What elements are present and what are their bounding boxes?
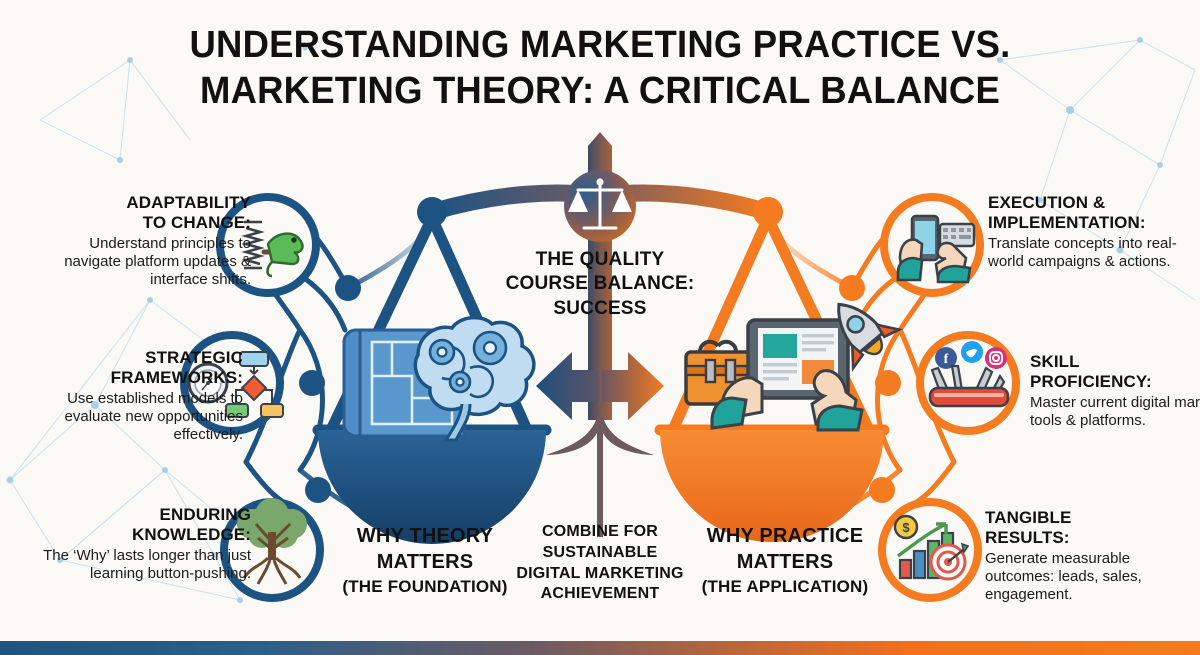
point-heading: STRATEGIC FRAMEWORKS:	[28, 348, 243, 387]
left-pan-label-line-2: MATTERS	[330, 549, 520, 575]
point-heading-line-1: TANGIBLE	[985, 508, 1200, 528]
point-strategic-frameworks: STRATEGIC FRAMEWORKS: Use established mo…	[28, 348, 243, 444]
point-heading-line-1: SKILL	[1030, 352, 1200, 372]
point-body: Master current digital marketing tools &…	[1030, 394, 1200, 430]
point-body: Translate concepts into real-world campa…	[988, 235, 1200, 271]
right-pan-label-line-2: MATTERS	[690, 549, 880, 575]
circle-execution-implementation	[884, 197, 980, 293]
center-headline-line-3: SUCCESS	[490, 297, 710, 321]
svg-text:f: f	[944, 352, 949, 367]
point-heading: SKILL PROFICIENCY:	[1030, 352, 1200, 391]
svg-text:$: $	[902, 520, 910, 535]
point-heading-line-2: TO CHANGE:	[36, 213, 251, 233]
point-enduring-knowledge: ENDURING KNOWLEDGE: The ‘Why’ lasts long…	[36, 505, 251, 583]
center-footer-line-3: DIGITAL MARKETING	[512, 564, 688, 585]
point-heading-line-1: ADAPTABILITY	[36, 193, 251, 213]
point-heading: EXECUTION & IMPLEMENTATION:	[988, 193, 1200, 232]
center-footer-line-2: SUSTAINABLE	[512, 543, 688, 564]
center-headline-line-1: THE QUALITY	[490, 248, 710, 272]
infographic-canvas: UNDERSTANDING MARKETING PRACTICE VS. MAR…	[0, 0, 1200, 655]
point-body: Use established models to evaluate new o…	[28, 390, 243, 444]
point-heading: TANGIBLE RESULTS:	[985, 508, 1200, 547]
point-heading-line-2: PROFICIENCY:	[1030, 372, 1200, 392]
left-pan-label: WHY THEORY MATTERS (THE FOUNDATION)	[330, 523, 520, 598]
point-heading-line-1: EXECUTION &	[988, 193, 1200, 213]
center-footer-line-4: ACHIEVEMENT	[512, 584, 688, 605]
point-heading-line-2: FRAMEWORKS:	[28, 368, 243, 388]
point-heading-line-2: KNOWLEDGE:	[36, 525, 251, 545]
point-heading-line-1: STRATEGIC	[28, 348, 243, 368]
point-body: Generate measurable outcomes: leads, sal…	[985, 550, 1200, 604]
center-footer-text: COMBINE FOR SUSTAINABLE DIGITAL MARKETIN…	[512, 522, 688, 605]
point-execution-implementation: EXECUTION & IMPLEMENTATION: Translate co…	[988, 193, 1200, 271]
right-pan-label: WHY PRACTICE MATTERS (THE APPLICATION)	[690, 523, 880, 598]
balance-scales-icon	[564, 170, 636, 242]
point-heading: ADAPTABILITY TO CHANGE:	[36, 193, 251, 232]
left-pan-label-sub: (THE FOUNDATION)	[330, 576, 520, 598]
center-footer-line-1: COMBINE FOR	[512, 522, 688, 543]
point-body: Understand principles to navigate platfo…	[36, 235, 251, 289]
point-tangible-results: TANGIBLE RESULTS: Generate measurable ou…	[985, 508, 1200, 604]
circle-tangible-results: $	[882, 502, 978, 598]
circle-skill-proficiency: f	[920, 335, 1016, 431]
point-heading: ENDURING KNOWLEDGE:	[36, 505, 251, 544]
left-pan-label-line-1: WHY THEORY	[330, 523, 520, 549]
center-headline: THE QUALITY COURSE BALANCE: SUCCESS	[490, 248, 710, 321]
point-skill-proficiency: SKILL PROFICIENCY: Master current digita…	[1030, 352, 1200, 430]
point-heading-line-2: IMPLEMENTATION:	[988, 213, 1200, 233]
point-adaptability-to-change: ADAPTABILITY TO CHANGE: Understand princ…	[36, 193, 251, 289]
center-headline-line-2: COURSE BALANCE:	[490, 272, 710, 296]
point-body: The ‘Why’ lasts longer than just learnin…	[36, 547, 251, 583]
point-heading-line-1: ENDURING	[36, 505, 251, 525]
point-heading-line-2: RESULTS:	[985, 528, 1200, 548]
right-pan-label-line-1: WHY PRACTICE	[690, 523, 880, 549]
right-pan-label-sub: (THE APPLICATION)	[690, 576, 880, 598]
bottom-gradient-bar	[0, 641, 1200, 655]
